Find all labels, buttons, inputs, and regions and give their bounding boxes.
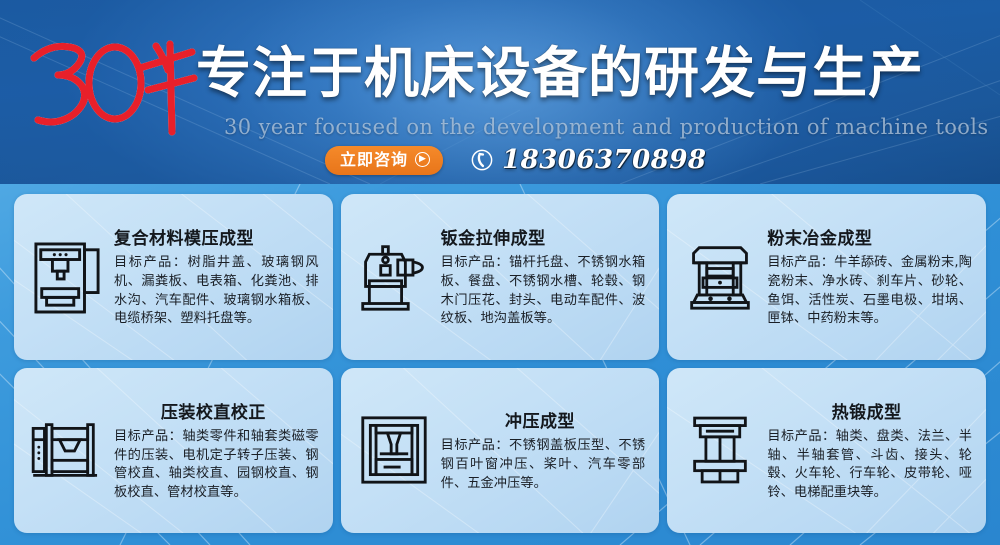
headline-subtitle: 30 year focused on the development and p… [224, 115, 989, 139]
card-title: 冲压成型 [441, 407, 646, 432]
cta-row: 立即咨询 ▶ 18306370898 [325, 145, 707, 175]
card-text: 压装校直校正 目标产品：轴类零件和轴套类磁零件的压装、电机定子转子压装、钢管校直… [110, 398, 321, 503]
card-text: 热锻成型 目标产品：轴类、盘类、法兰、半轴、半轴套管、斗齿、接头、轮毂、火车轮、… [763, 398, 974, 503]
press-fit-straightening-icon [24, 419, 110, 481]
service-card[interactable]: 复合材料模压成型 目标产品：树脂井盖、玻璃钢风机、漏粪板、电表箱、化粪池、排水沟… [14, 194, 333, 360]
card-title: 粉末冶金成型 [767, 224, 972, 249]
card-description: 目标产品：锚杆托盘、不锈钢水箱板、餐盘、不锈钢水槽、轮毂、钢木门压花、封头、电动… [441, 254, 646, 329]
card-title: 钣金拉伸成型 [441, 224, 646, 249]
stamping-press-icon [351, 414, 437, 486]
phone-block[interactable]: 18306370898 [471, 145, 707, 175]
banner-body: 复合材料模压成型 目标产品：树脂井盖、玻璃钢风机、漏粪板、电表箱、化粪池、排水沟… [0, 184, 1000, 545]
hot-forging-press-icon [677, 412, 763, 488]
card-title: 复合材料模压成型 [114, 224, 319, 249]
service-card[interactable]: 钣金拉伸成型 目标产品：锚杆托盘、不锈钢水箱板、餐盘、不锈钢水槽、轮毂、钢木门压… [341, 194, 660, 360]
consult-now-label: 立即咨询 [340, 150, 408, 170]
headline-title: 专注于机床设备的研发与生产 [196, 46, 924, 101]
sheet-metal-drawing-press-icon [351, 239, 437, 315]
phone-number: 18306370898 [502, 145, 707, 175]
service-card-grid: 复合材料模压成型 目标产品：树脂井盖、玻璃钢风机、漏粪板、电表箱、化粪池、排水沟… [0, 184, 1000, 545]
service-card[interactable]: 压装校直校正 目标产品：轴类零件和轴套类磁零件的压装、电机定子转子压装、钢管校直… [14, 368, 333, 534]
service-card[interactable]: 热锻成型 目标产品：轴类、盘类、法兰、半轴、半轴套管、斗齿、接头、轮毂、火车轮、… [667, 368, 986, 534]
service-card[interactable]: 粉末冶金成型 目标产品：牛羊舔砖、金属粉末,陶瓷粉末、净水砖、刹车片、砂轮、鱼饵… [667, 194, 986, 360]
card-text: 冲压成型 目标产品：不锈钢盖板压型、不锈钢百叶窗冲压、桨叶、汽车零部件、五金冲压… [437, 407, 648, 493]
promo-banner: 专注于机床设备的研发与生产 30 year focused on the dev… [0, 0, 1000, 545]
banner-header: 专注于机床设备的研发与生产 30 year focused on the dev… [0, 0, 1000, 184]
card-description: 目标产品：不锈钢盖板压型、不锈钢百叶窗冲压、桨叶、汽车零部件、五金冲压等。 [441, 437, 646, 493]
service-card[interactable]: 冲压成型 目标产品：不锈钢盖板压型、不锈钢百叶窗冲压、桨叶、汽车零部件、五金冲压… [341, 368, 660, 534]
card-description: 目标产品：树脂井盖、玻璃钢风机、漏粪板、电表箱、化粪池、排水沟、汽车配件、玻璃钢… [114, 254, 319, 329]
phone-icon [471, 149, 493, 171]
card-description: 目标产品：轴类零件和轴套类磁零件的压装、电机定子转子压装、钢管校直、轴类校直、园… [114, 428, 319, 503]
card-description: 目标产品：牛羊舔砖、金属粉末,陶瓷粉末、净水砖、刹车片、砂轮、鱼饵、活性炭、石墨… [767, 254, 972, 329]
thirty-years-calligraphy [22, 28, 202, 138]
compression-molding-press-icon [24, 238, 110, 316]
card-description: 目标产品：轴类、盘类、法兰、半轴、半轴套管、斗齿、接头、轮毂、火车轮、行车轮、皮… [767, 428, 972, 503]
card-text: 复合材料模压成型 目标产品：树脂井盖、玻璃钢风机、漏粪板、电表箱、化粪池、排水沟… [110, 224, 321, 329]
powder-metallurgy-press-icon [677, 240, 763, 314]
consult-now-button[interactable]: 立即咨询 ▶ [325, 146, 443, 175]
card-title: 压装校直校正 [114, 398, 319, 423]
arrow-right-icon: ▶ [415, 152, 430, 167]
card-text: 粉末冶金成型 目标产品：牛羊舔砖、金属粉末,陶瓷粉末、净水砖、刹车片、砂轮、鱼饵… [763, 224, 974, 329]
card-text: 钣金拉伸成型 目标产品：锚杆托盘、不锈钢水箱板、餐盘、不锈钢水槽、轮毂、钢木门压… [437, 224, 648, 329]
card-title: 热锻成型 [767, 398, 972, 423]
